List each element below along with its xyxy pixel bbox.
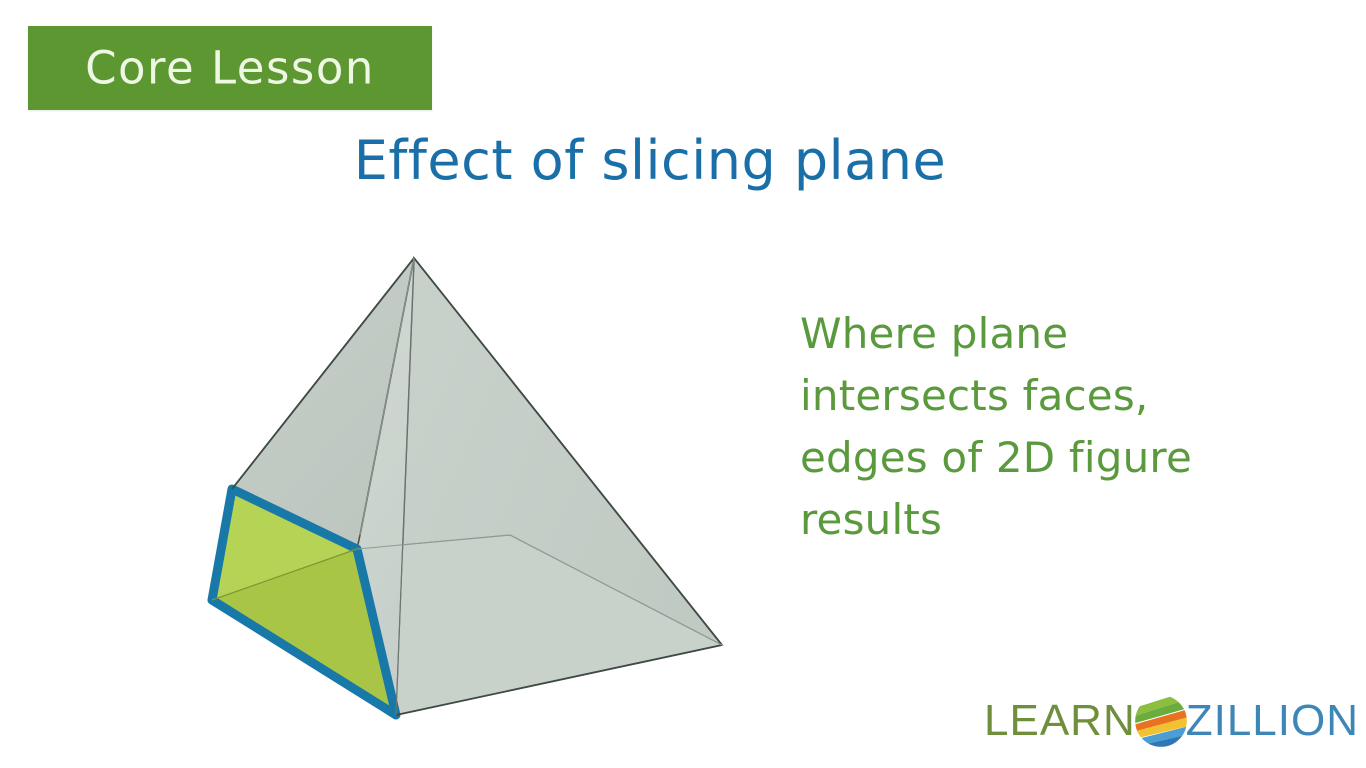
body-text: Where plane intersects faces, edges of 2… xyxy=(800,303,1340,552)
slide-canvas: Core Lesson Effect of slicing plane xyxy=(0,0,1366,768)
learnzillion-logo: LEARN ZILLION xyxy=(984,692,1359,750)
body-line: results xyxy=(800,489,1340,551)
logo-word-learn: LEARN xyxy=(984,699,1136,743)
body-line: edges of 2D figure xyxy=(800,427,1340,489)
pyramid-figure xyxy=(180,235,760,745)
core-lesson-banner: Core Lesson xyxy=(28,26,432,110)
core-lesson-label: Core Lesson xyxy=(28,46,432,91)
globe-stripes-icon xyxy=(1132,692,1190,750)
body-line: intersects faces, xyxy=(800,365,1340,427)
pyramid-svg xyxy=(180,235,760,745)
pyramid-base-face xyxy=(357,535,722,715)
logo-word-zillion: ZILLION xyxy=(1186,699,1359,743)
page-title: Effect of slicing plane xyxy=(300,133,1000,190)
body-line: Where plane xyxy=(800,303,1340,365)
